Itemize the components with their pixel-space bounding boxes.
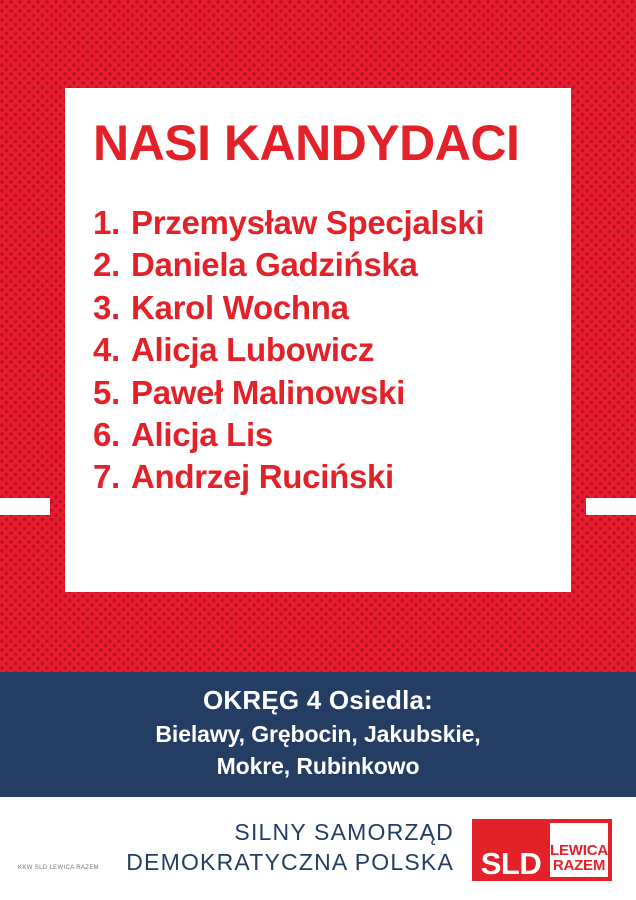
candidate-number: 3. xyxy=(93,287,131,329)
panel-inner: NASI KANDYDACI 1. Przemysław Specjalski … xyxy=(93,118,551,499)
candidate-name: Paweł Malinowski xyxy=(131,372,405,414)
candidate-number: 6. xyxy=(93,414,131,456)
logo-lewica-razem-block: LEWICA RAZEM xyxy=(550,823,608,877)
list-item: 6. Alicja Lis xyxy=(93,414,551,456)
left-white-notch xyxy=(0,498,50,515)
logo-sld-text: SLD xyxy=(481,848,542,879)
list-item: 4. Alicja Lubowicz xyxy=(93,329,551,371)
logo-sld-block: SLD xyxy=(472,819,550,881)
candidate-name: Karol Wochna xyxy=(131,287,349,329)
campaign-slogan: SILNY SAMORZĄD DEMOKRATYCZNA POLSKA xyxy=(126,818,454,877)
right-white-notch xyxy=(586,498,636,515)
candidate-name: Alicja Lubowicz xyxy=(131,329,374,371)
district-heading: OKRĘG 4 Osiedla: xyxy=(0,672,636,716)
candidate-number: 2. xyxy=(93,244,131,286)
logo-lewica-text: LEWICA xyxy=(550,843,608,859)
list-item: 2. Daniela Gadzińska xyxy=(93,244,551,286)
list-item: 1. Przemysław Specjalski xyxy=(93,202,551,244)
district-band: OKRĘG 4 Osiedla: Bielawy, Grębocin, Jaku… xyxy=(0,672,636,797)
slogan-line-2: DEMOKRATYCZNA POLSKA xyxy=(126,848,454,878)
list-item: 3. Karol Wochna xyxy=(93,287,551,329)
district-neighborhoods-line-1: Bielawy, Grębocin, Jakubskie, xyxy=(0,716,636,748)
candidate-name: Alicja Lis xyxy=(131,414,273,456)
sld-logo: SLD LEWICA RAZEM xyxy=(472,819,612,881)
candidate-number: 5. xyxy=(93,372,131,414)
list-item: 5. Paweł Malinowski xyxy=(93,372,551,414)
candidate-number: 4. xyxy=(93,329,131,371)
slogan-line-1: SILNY SAMORZĄD xyxy=(126,818,454,848)
candidate-name: Andrzej Ruciński xyxy=(131,456,394,498)
list-item: 7. Andrzej Ruciński xyxy=(93,456,551,498)
logo-razem-text: RAZEM xyxy=(553,858,605,874)
page-title: NASI KANDYDACI xyxy=(93,118,551,168)
candidate-list: 1. Przemysław Specjalski 2. Daniela Gadz… xyxy=(93,202,551,499)
candidate-name: Przemysław Specjalski xyxy=(131,202,484,244)
white-content-panel: NASI KANDYDACI 1. Przemysław Specjalski … xyxy=(65,88,571,592)
candidate-name: Daniela Gadzińska xyxy=(131,244,418,286)
committee-disclaimer: KKW SLD LEWICA RAZEM xyxy=(18,865,99,871)
campaign-poster: NASI KANDYDACI 1. Przemysław Specjalski … xyxy=(0,0,636,900)
district-neighborhoods-line-2: Mokre, Rubinkowo xyxy=(0,748,636,780)
candidate-number: 1. xyxy=(93,202,131,244)
candidate-number: 7. xyxy=(93,456,131,498)
